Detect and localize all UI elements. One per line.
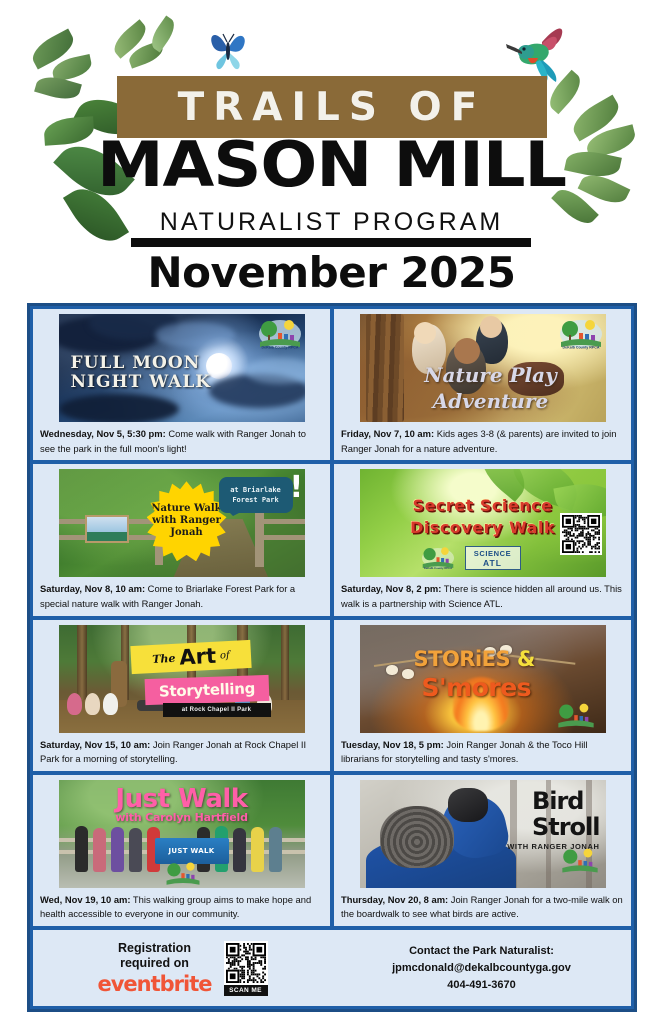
event-thumbnail: Secret Science Discovery Walk DeKalb Cou… [360,469,606,577]
event-date: Thursday, Nov 20, 8 am: [341,894,448,905]
event-card-full-moon-night-walk[interactable]: FULL MOON NIGHT WALK DeKal [33,309,330,460]
event-card-just-walk[interactable]: JUST WALK Just Walk with Carolyn Hartfie… [33,775,330,926]
qr-code[interactable] [560,513,602,555]
walker-figure [75,826,88,872]
thumb-title-line-2: with Carolyn Hartfield [59,811,305,824]
events-row: FULL MOON NIGHT WALK DeKal [33,309,631,460]
event-thumb-title: STORiES & [414,647,535,671]
location-speech-bubble: at Briarlake Forest Park [219,477,293,513]
event-caption: Saturday, Nov 8, 10 am: Come to Briarlak… [40,582,323,611]
thumb-title-line-2: S'mores [422,673,532,702]
park-sign [85,515,129,543]
partner-logo-line-2: ATL [483,558,502,568]
scan-me-label: SCAN ME [224,985,268,996]
dekalb-county-rpca-logo: DeKalb County RPCA [559,317,603,351]
audience-figure [103,693,118,715]
contact-email: jpmcdonald@dekalbcountyga.gov [332,960,631,977]
event-date: Saturday, Nov 8, 2 pm: [341,583,441,594]
event-card-bird-stroll[interactable]: Bird Stroll WITH RANGER JONAH [334,775,631,926]
location-banner: at Rock Chapel II Park [163,703,271,717]
cloud-shape [59,394,179,422]
fence-rail [259,519,305,524]
thumb-title-line-1: Nature Play [391,362,591,388]
band-title: TRAILS OF [178,85,487,130]
thumb-title-line-1: Bird [532,788,600,814]
events-row: Nature Walk with Ranger Jonah at Briarla… [33,464,631,615]
science-atl-logo: SCIENCE ATL [465,546,521,570]
contact-phone: 404-491-3670 [332,977,631,994]
thumb-title-line-1: FULL MOON [71,354,212,373]
event-date: Friday, Nov 7, 10 am: [341,428,434,439]
partner-logo-line-1: SCIENCE [474,549,512,558]
child-figure [414,322,436,344]
dekalb-county-rpca-logo [163,860,203,888]
event-thumb-title: Nature Play Adventure [391,362,591,414]
banner-text: JUST WALK [169,847,215,855]
poster-footer: Registration required on eventbrite SCAN… [33,930,631,1006]
event-date: Saturday, Nov 8, 10 am: [40,583,145,594]
tree-trunk [281,625,289,709]
registration-line-1: Registration [97,941,211,956]
banner-storytelling: Storytelling [158,679,255,700]
event-card-stories-and-smores[interactable]: STORiES & S'mores [334,620,631,771]
registration-qr-code[interactable]: SCAN ME [224,941,268,996]
event-caption: Tuesday, Nov 18, 5 pm: Join Ranger Jonah… [341,738,624,767]
exclamation-mark: ! [290,473,304,503]
event-date: Wed, Nov 19, 10 am: [40,894,131,905]
banner-art: Art [178,643,216,669]
dekalb-county-rpca-logo: DeKalb County RPCA [416,545,460,571]
event-date: Saturday, Nov 15, 10 am: [40,739,150,750]
svg-text:DeKalb County RPCA: DeKalb County RPCA [562,346,599,350]
banner-the: The [151,651,175,665]
events-row: JUST WALK Just Walk with Carolyn Hartfie… [33,775,631,926]
registration-line-2: required on [97,956,211,971]
thumb-title-line-2: NIGHT WALK [71,373,212,392]
glove-icon [448,788,488,822]
event-thumbnail: Nature Play Adventure DeKa [360,314,606,422]
title-banner-yellow: The Art of [130,639,251,673]
banner-location: at Rock Chapel II Park [182,707,252,713]
event-caption: Friday, Nov 7, 10 am: Kids ages 3-8 (& p… [341,427,624,456]
poster: TRAILS OF MASON MILL NATURALIST PROGRAM … [0,0,663,1024]
registration-text-block: Registration required on eventbrite [97,941,211,996]
contact-block: Contact the Park Naturalist: jpmcdonald@… [332,943,631,994]
event-card-secret-science-discovery-walk[interactable]: Secret Science Discovery Walk DeKalb Cou… [334,464,631,615]
child-figure [480,316,502,338]
events-row: The Art of Storytelling at Rock Chapel I… [33,620,631,771]
svg-text:DeKalb County RPCA: DeKalb County RPCA [261,346,298,350]
thumb-title-ampersand: & [517,647,535,671]
audience-figure [67,693,82,715]
dekalb-county-rpca-logo: DeKalb County RPCA [258,317,302,351]
marshmallow [386,665,398,675]
month-heading: November 2025 [0,248,663,297]
event-thumb-title: FULL MOON NIGHT WALK [71,354,212,392]
event-caption: Saturday, Nov 8, 2 pm: There is science … [341,582,624,611]
event-thumbnail: Nature Walk with Ranger Jonah at Briarla… [59,469,305,577]
bubble-line-2: Forest Park [232,496,278,504]
event-card-nature-walk-ranger-jonah[interactable]: Nature Walk with Ranger Jonah at Briarla… [33,464,330,615]
event-card-art-of-storytelling[interactable]: The Art of Storytelling at Rock Chapel I… [33,620,330,771]
butterfly-icon [206,26,250,72]
title-banner-pink: Storytelling [144,674,269,704]
contact-heading: Contact the Park Naturalist: [332,943,631,960]
walker-figure [129,828,142,872]
event-thumb-title: Bird Stroll [532,788,600,840]
knit-hat [380,806,454,868]
event-date: Wednesday, Nov 5, 5:30 pm: [40,428,166,439]
poster-header: TRAILS OF MASON MILL NATURALIST PROGRAM … [0,0,663,300]
thumb-title-line-1: STORiES [414,647,511,671]
walker-figure [233,828,246,872]
event-card-nature-play-adventure[interactable]: Nature Play Adventure DeKa [334,309,631,460]
dekalb-county-rpca-logo [560,846,600,876]
event-thumbnail: The Art of Storytelling at Rock Chapel I… [59,625,305,733]
walker-figure [251,827,264,872]
dekalb-county-rpca-logo [556,701,596,731]
event-caption: Saturday, Nov 15, 10 am: Join Ranger Jon… [40,738,323,767]
cloud-shape [155,322,235,348]
thumb-title-line-2: Stroll [532,814,600,840]
bubble-line-1: at Briarlake [230,486,281,494]
event-thumbnail: STORiES & S'mores [360,625,606,733]
badge-text: Nature Walk with Ranger Jonah [147,503,227,539]
marshmallow [402,669,414,679]
main-title: MASON MILL [0,134,663,196]
event-thumbnail: FULL MOON NIGHT WALK DeKal [59,314,305,422]
bubble-text: at Briarlake Forest Park [230,485,281,505]
subtitle: NATURALIST PROGRAM [0,208,663,237]
fence-rail [259,535,305,540]
audience-figure [85,693,100,715]
banner-of: of [219,649,229,660]
walker-figure [93,828,106,872]
event-caption: Wed, Nov 19, 10 am: This walking group a… [40,893,323,922]
registration-block: Registration required on eventbrite SCAN… [33,941,332,996]
footer-row: Registration required on eventbrite SCAN… [33,930,631,1006]
thumb-title-line-2: Adventure [391,388,591,414]
event-caption: Thursday, Nov 20, 8 am: Join Ranger Jona… [341,893,624,922]
event-caption: Wednesday, Nov 5, 5:30 pm: Come walk wit… [40,427,323,456]
event-thumbnail: Bird Stroll WITH RANGER JONAH [360,780,606,888]
event-date: Tuesday, Nov 18, 5 pm: [341,739,444,750]
thumb-title-line-1: Just Walk [59,784,305,814]
eventbrite-logo: eventbrite [97,972,211,996]
events-grid: FULL MOON NIGHT WALK DeKal [27,303,637,1012]
walker-figure [111,827,124,872]
svg-text:DeKalb County RPCA: DeKalb County RPCA [423,566,451,570]
title-rule [131,238,531,247]
event-thumbnail: JUST WALK Just Walk with Carolyn Hartfie… [59,780,305,888]
walker-figure [269,827,282,872]
child-figure [454,338,480,364]
